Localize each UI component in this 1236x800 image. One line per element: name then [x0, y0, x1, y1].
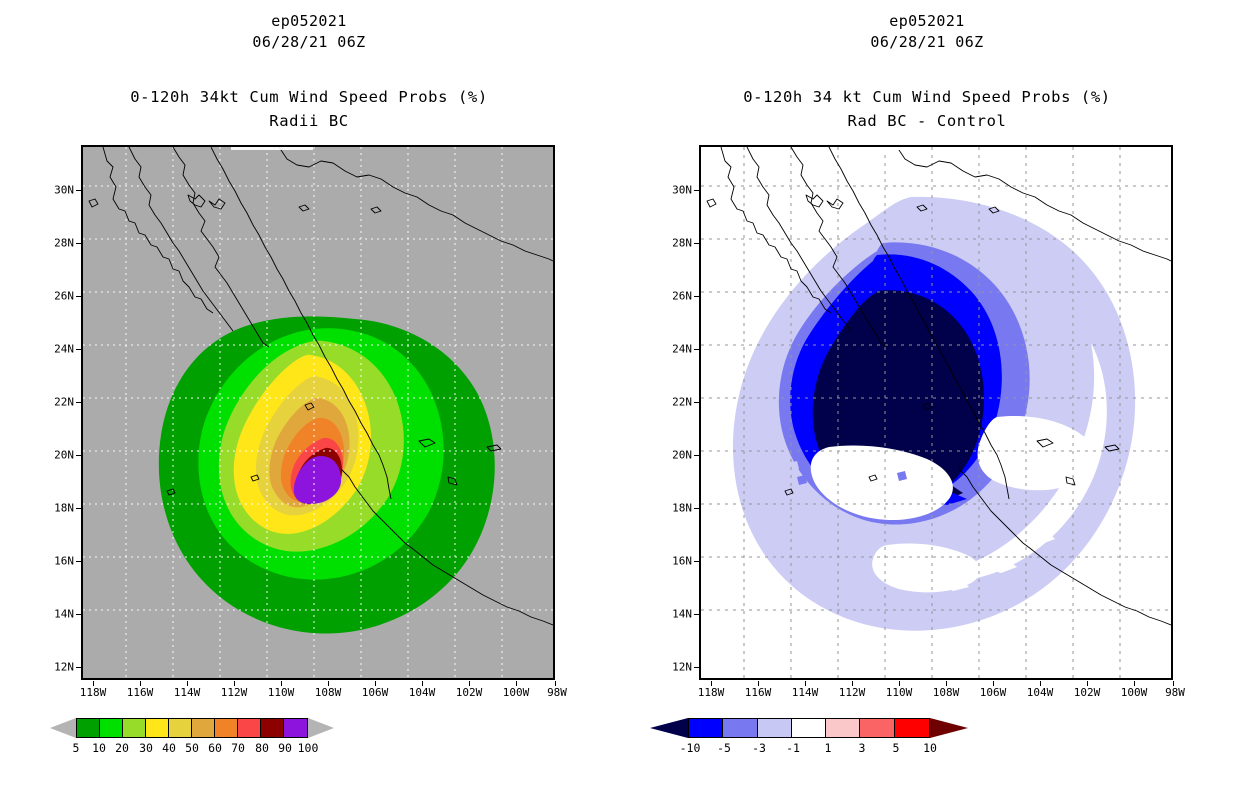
colorbar-difference[interactable]: -10 -5 -3 -1 1 3 5 10 — [618, 718, 1236, 738]
xtick-label: 116W — [127, 686, 154, 699]
colorbar-cell — [123, 719, 146, 737]
ytick-label: 24N — [28, 343, 74, 356]
colorbar-tick-label: -10 — [680, 741, 701, 755]
colorbar-tick-label: 10 — [92, 741, 106, 755]
xtick-label: 112W — [221, 686, 248, 699]
colorbar-cell — [100, 719, 123, 737]
colorbar-high-cap — [308, 718, 334, 738]
colorbar-tick-label: 100 — [298, 741, 319, 755]
ytick-mark — [76, 508, 81, 509]
colorbar-tick-label: 20 — [115, 741, 129, 755]
colorbar-cell — [146, 719, 169, 737]
panel-left-subtitle: Radii BC — [0, 112, 618, 130]
xtick-label: 104W — [409, 686, 436, 699]
colorbar-low-cap — [650, 718, 688, 738]
xtick-label: 108W — [315, 686, 342, 699]
ytick-label: 30N — [646, 184, 692, 197]
ytick-mark — [76, 349, 81, 350]
ytick-label: 18N — [646, 502, 692, 515]
ytick-label: 20N — [646, 449, 692, 462]
ytick-mark — [76, 614, 81, 615]
colorbar-cell — [215, 719, 238, 737]
xtick-label: 106W — [362, 686, 389, 699]
ytick-label: 30N — [28, 184, 74, 197]
xtick-label: 102W — [456, 686, 483, 699]
xtick-label: 114W — [792, 686, 819, 699]
xtick-label: 112W — [839, 686, 866, 699]
ytick-label: 20N — [28, 449, 74, 462]
ytick-label: 12N — [646, 661, 692, 674]
xtick-label: 98W — [547, 686, 567, 699]
panel-left-storm-id: ep052021 — [0, 12, 618, 30]
figure-canvas: ep052021 06/28/21 06Z 0-120h 34kt Cum Wi… — [0, 0, 1236, 800]
xtick-label: 116W — [745, 686, 772, 699]
colorbar-cell — [284, 719, 307, 737]
ytick-label: 16N — [28, 555, 74, 568]
ytick-label: 28N — [646, 237, 692, 250]
colorbar-low-cap — [50, 718, 76, 738]
panel-left-datetime: 06/28/21 06Z — [0, 33, 618, 51]
colorbar-cell — [169, 719, 192, 737]
panel-right-title: 0-120h 34 kt Cum Wind Speed Probs (%) — [618, 88, 1236, 106]
colorbar-cell — [792, 719, 826, 737]
panel-radii-bc: ep052021 06/28/21 06Z 0-120h 34kt Cum Wi… — [0, 0, 618, 800]
colorbar-probability[interactable]: 5 10 20 30 40 50 60 70 80 90 100 — [0, 718, 618, 738]
colorbar-tick-label: -3 — [752, 741, 766, 755]
colorbar-tick-label: 90 — [278, 741, 292, 755]
colorbar-tick-label: 5 — [73, 741, 80, 755]
ytick-label: 22N — [646, 396, 692, 409]
xtick-label: 110W — [268, 686, 295, 699]
colorbar-tick-label: -1 — [786, 741, 800, 755]
colorbar-tick-label: 5 — [893, 741, 900, 755]
colorbar-tick-label: 1 — [825, 741, 832, 755]
colorbar-cell — [758, 719, 792, 737]
colorbar-cell — [826, 719, 860, 737]
ytick-label: 16N — [646, 555, 692, 568]
map-radii-bc[interactable] — [81, 145, 555, 680]
colorbar-tick-label: 80 — [255, 741, 269, 755]
ytick-mark — [76, 243, 81, 244]
panel-right-subtitle: Rad BC - Control — [618, 112, 1236, 130]
colorbar-tick-label: 3 — [859, 741, 866, 755]
panel-rad-bc-minus-control: ep052021 06/28/21 06Z 0-120h 34 kt Cum W… — [618, 0, 1236, 800]
ytick-label: 26N — [28, 290, 74, 303]
ytick-mark — [76, 561, 81, 562]
colorbar-tick-label: 30 — [139, 741, 153, 755]
ytick-mark — [76, 667, 81, 668]
colorbar-cell — [895, 719, 929, 737]
ytick-mark — [76, 455, 81, 456]
xtick-label: 102W — [1074, 686, 1101, 699]
colorbar-tick-label: 50 — [185, 741, 199, 755]
ytick-mark — [76, 402, 81, 403]
map-rad-bc-minus-control[interactable] — [699, 145, 1173, 680]
xtick-label: 118W — [80, 686, 107, 699]
xtick-label: 110W — [886, 686, 913, 699]
colorbar-tick-label: 10 — [923, 741, 937, 755]
ytick-label: 28N — [28, 237, 74, 250]
panel-right-datetime: 06/28/21 06Z — [618, 33, 1236, 51]
colorbar-cell — [689, 719, 723, 737]
ytick-mark — [76, 190, 81, 191]
xtick-label: 118W — [698, 686, 725, 699]
ytick-label: 18N — [28, 502, 74, 515]
xtick-label: 98W — [1165, 686, 1185, 699]
colorbar-cell — [192, 719, 215, 737]
colorbar-tick-label: 60 — [208, 741, 222, 755]
ytick-label: 24N — [646, 343, 692, 356]
panel-right-storm-id: ep052021 — [618, 12, 1236, 30]
xtick-label: 114W — [174, 686, 201, 699]
ytick-label: 22N — [28, 396, 74, 409]
colorbar-high-cap — [930, 718, 968, 738]
xtick-label: 106W — [980, 686, 1007, 699]
colorbar-tick-label: 70 — [231, 741, 245, 755]
colorbar-cell — [238, 719, 261, 737]
colorbar-cell — [723, 719, 757, 737]
ytick-label: 14N — [28, 608, 74, 621]
ytick-label: 12N — [28, 661, 74, 674]
panel-left-title: 0-120h 34kt Cum Wind Speed Probs (%) — [0, 88, 618, 106]
xtick-label: 100W — [1121, 686, 1148, 699]
xtick-label: 104W — [1027, 686, 1054, 699]
ytick-label: 14N — [646, 608, 692, 621]
colorbar-cell — [860, 719, 894, 737]
ytick-label: 26N — [646, 290, 692, 303]
colorbar-cell — [261, 719, 284, 737]
xtick-label: 100W — [503, 686, 530, 699]
xtick-label: 108W — [933, 686, 960, 699]
ytick-mark — [76, 296, 81, 297]
colorbar-cell — [77, 719, 100, 737]
colorbar-tick-label: -5 — [717, 741, 731, 755]
colorbar-tick-label: 40 — [162, 741, 176, 755]
